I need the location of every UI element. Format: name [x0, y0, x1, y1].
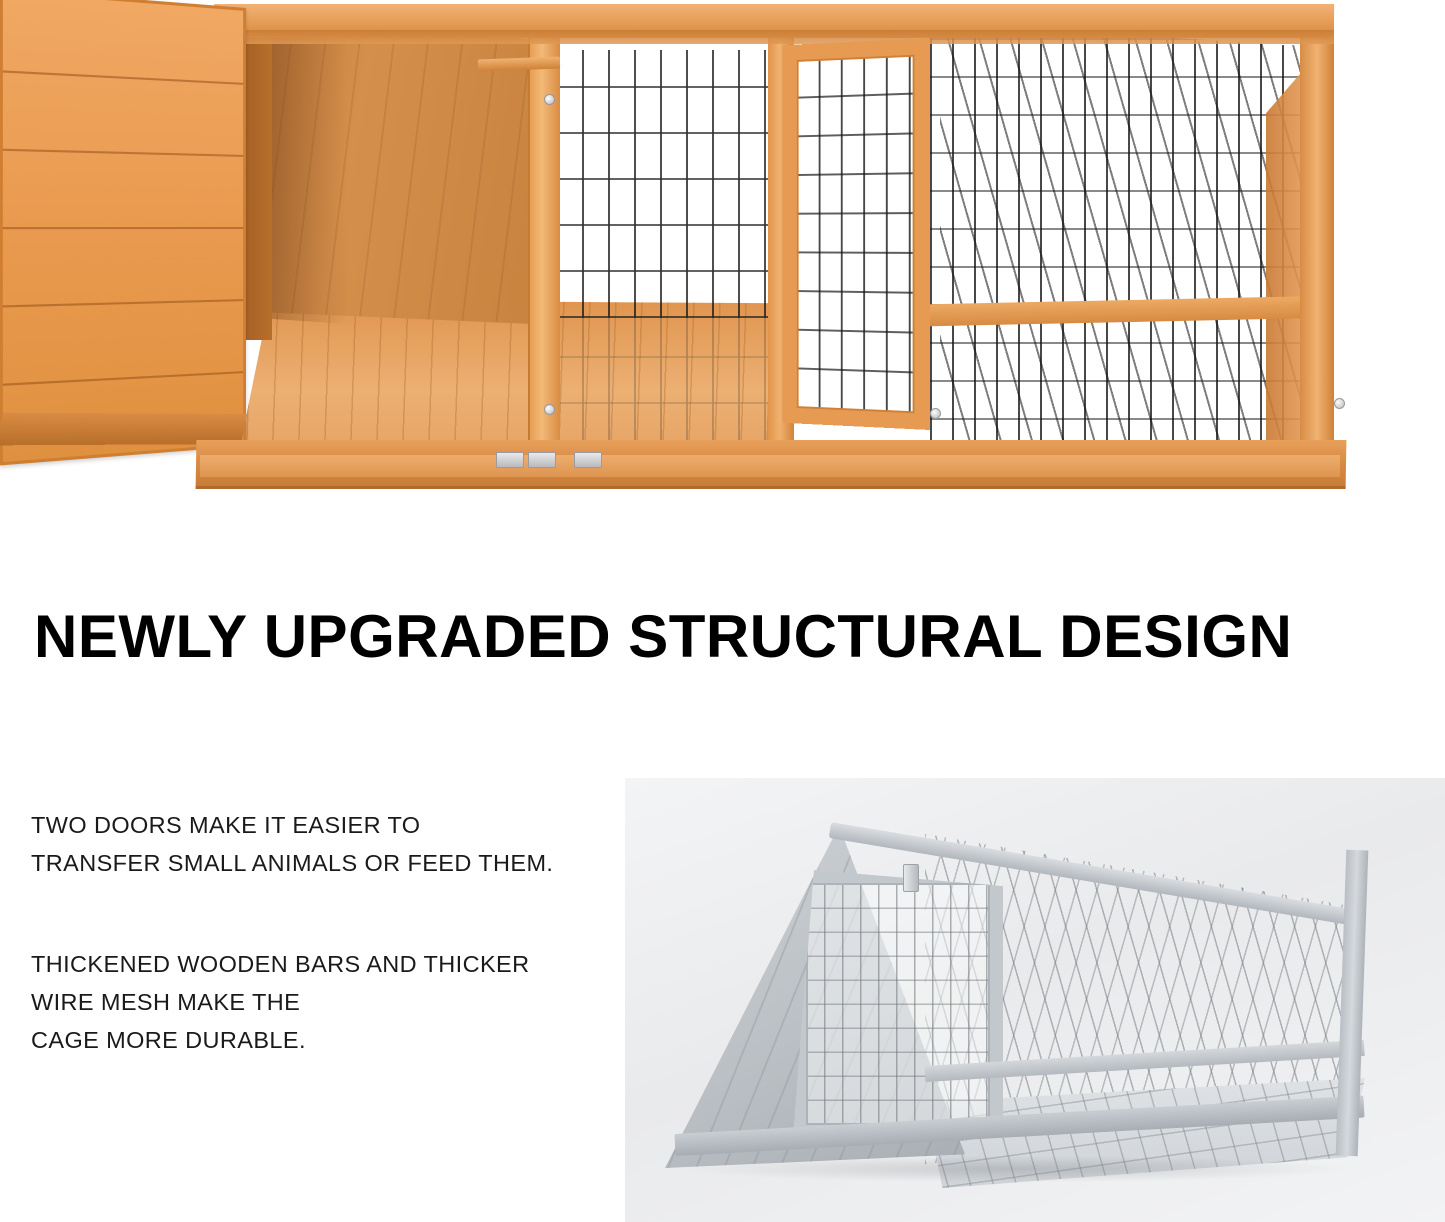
- metal-hinge: [528, 452, 556, 468]
- hutch-solid-door-open: [0, 0, 246, 465]
- triangular-hutch-hinge: [903, 864, 919, 892]
- screw-head: [1334, 398, 1345, 409]
- wire-mesh-panel-center: [556, 50, 774, 318]
- feature-line: WIRE MESH MAKE THE: [31, 983, 621, 1021]
- hutch-right-end-post: [1300, 10, 1334, 466]
- hutch-mesh-door-open: [782, 38, 930, 430]
- feature-line: TWO DOORS MAKE IT EASIER TO: [31, 806, 621, 844]
- screw-head: [930, 408, 941, 419]
- hutch-base-slab-top: [200, 455, 1340, 477]
- feature-line: TRANSFER SMALL ANIMALS OR FEED THEM.: [31, 844, 621, 882]
- metal-hinge: [496, 452, 524, 468]
- feature-line: CAGE MORE DURABLE.: [31, 1021, 621, 1059]
- metal-hinge: [574, 452, 602, 468]
- hutch-top-rail-shadow: [214, 30, 1334, 44]
- secondary-product-photo: [625, 778, 1445, 1222]
- hero-product-photo: [0, 0, 1445, 515]
- screw-head: [544, 94, 555, 105]
- wire-mesh-panel-center-lower: [556, 318, 774, 450]
- hutch-center-post-left: [528, 16, 560, 464]
- feature-thickened-bars: THICKENED WOODEN BARS AND THICKER WIRE M…: [31, 945, 621, 1059]
- triangular-hutch-ground-shadow: [685, 1156, 1345, 1182]
- feature-line: THICKENED WOODEN BARS AND THICKER: [31, 945, 621, 983]
- page-title: NEWLY UPGRADED STRUCTURAL DESIGN: [34, 602, 1424, 671]
- feature-two-doors: TWO DOORS MAKE IT EASIER TO TRANSFER SMA…: [31, 806, 621, 882]
- triangular-hutch-door: [793, 870, 1003, 1138]
- screw-head: [544, 404, 555, 415]
